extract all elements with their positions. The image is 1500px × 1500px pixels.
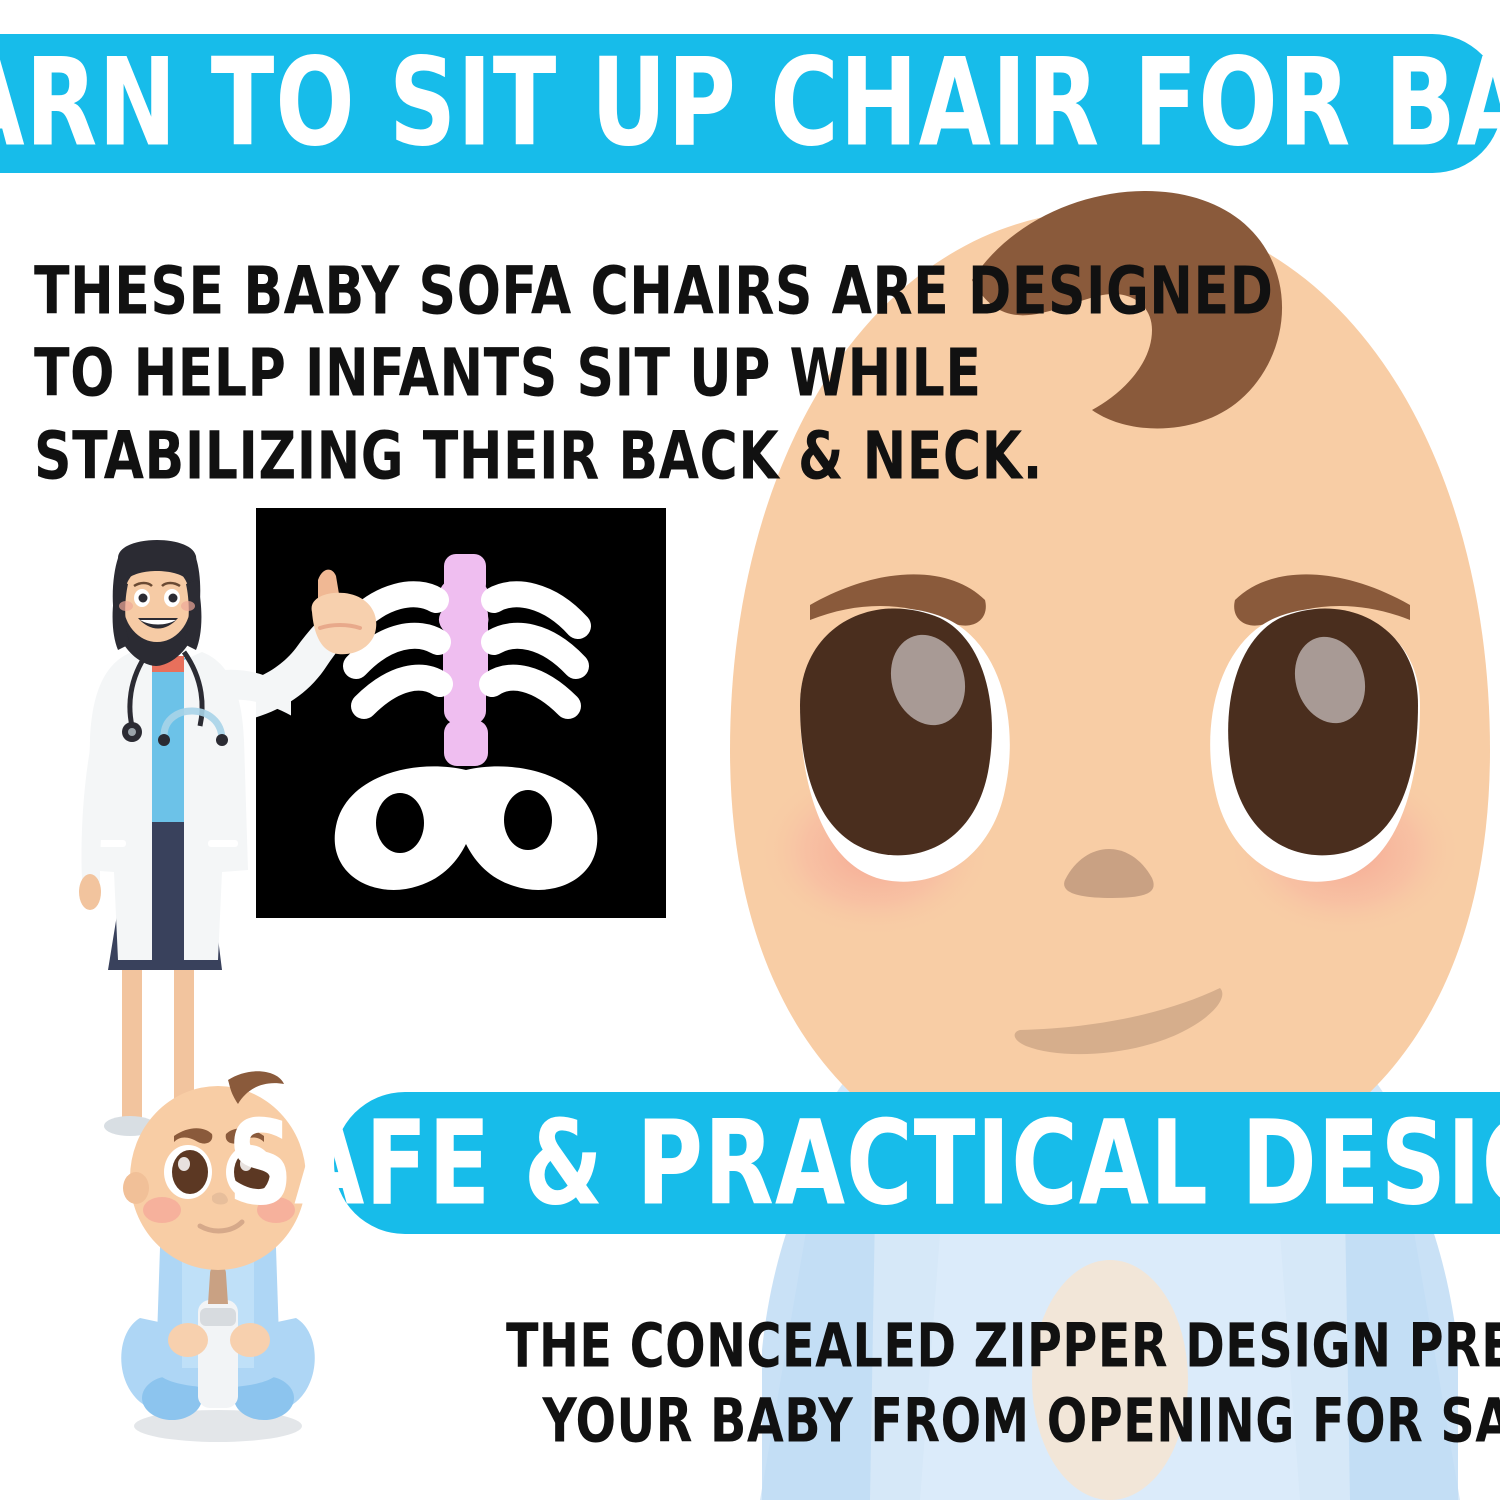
section-banner: SAFE & PRACTICAL DESIGN: [334, 1092, 1500, 1234]
header-banner: LEARN TO SIT UP CHAIR FOR BABY: [0, 34, 1500, 173]
infographic-canvas: LEARN TO SIT UP CHAIR FOR BABY THESE BAB…: [0, 0, 1500, 1500]
doctor-illustration: [56, 540, 291, 1160]
intro-paragraph: THESE BABY SOFA CHAIRS ARE DESIGNED TO H…: [34, 244, 1273, 491]
outro-paragraph: THE CONCEALED ZIPPER DESIGN PREVENTS YOU…: [506, 1309, 1500, 1460]
outro-line-2: YOUR BABY FROM OPENING FOR SAFETY.: [506, 1379, 1500, 1465]
vertebrae: [443, 554, 488, 766]
intro-line-1: THESE BABY SOFA CHAIRS ARE DESIGNED: [34, 244, 1273, 338]
section-banner-title: SAFE & PRACTICAL DESIGN: [228, 1105, 1500, 1221]
spine-xray-panel: [256, 508, 666, 918]
intro-line-2: TO HELP INFANTS SIT UP WHILE: [34, 326, 1273, 420]
outro-line-1: THE CONCEALED ZIPPER DESIGN PREVENTS: [506, 1304, 1500, 1390]
eye-left: [800, 608, 1010, 881]
doctor-left-hand: [79, 874, 101, 910]
intro-line-3: STABILIZING THEIR BACK & NECK.: [34, 409, 1273, 503]
eye-right: [1210, 608, 1420, 881]
doctor-head: [113, 540, 202, 666]
header-banner-title: LEARN TO SIT UP CHAIR FOR BABY: [0, 43, 1500, 164]
